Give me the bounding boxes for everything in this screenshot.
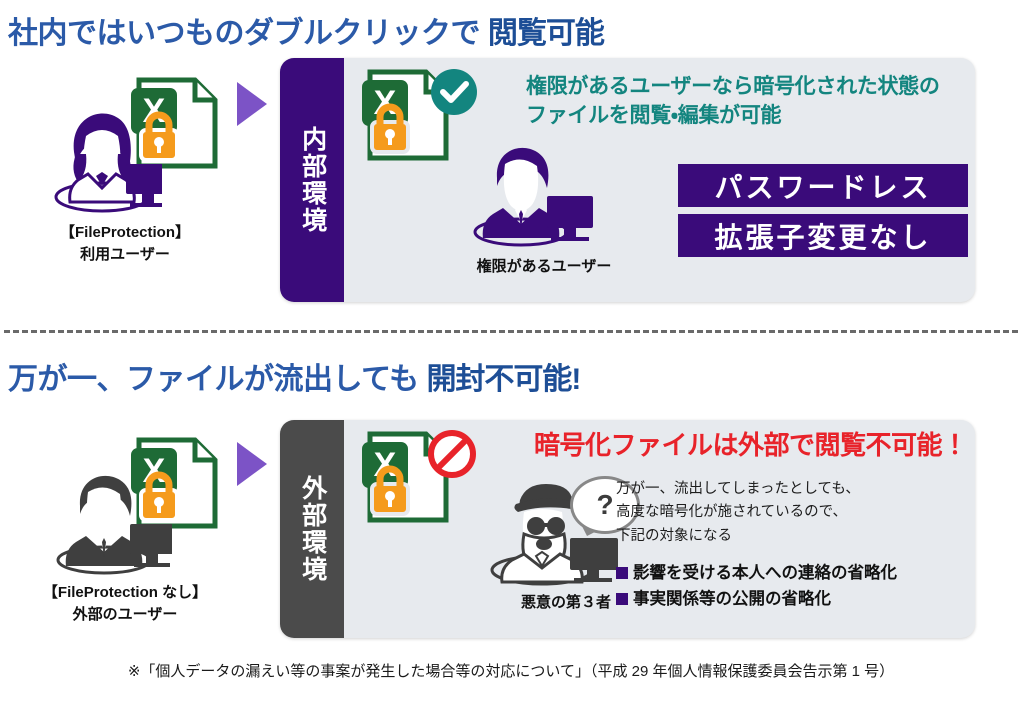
panel-body-external: X 暗号化ファイルは外部で閲覧不可能！ bbox=[344, 420, 975, 638]
panel-internal-environment: 内部環境 X 権限があるユーザーなら暗号化された状態の ファイルを閲覧・編集が可… bbox=[280, 58, 975, 302]
section-title-top-accent: 閲覧可能 bbox=[488, 17, 604, 50]
infographic-canvas: 社内ではいつものダブルクリックで 閲覧可能 X bbox=[0, 0, 1022, 704]
question-mark: ? bbox=[596, 489, 613, 521]
panel-external-environment: 外部環境 X 暗号化ファイルは外部で閲覧不可能！ bbox=[280, 420, 975, 638]
section-title-bottom-accent: 開封不可能! bbox=[426, 363, 580, 396]
bullet-square-icon bbox=[616, 567, 628, 579]
headline-internal: 権限があるユーザーなら暗号化された状態の ファイルを閲覧・編集が可能 bbox=[526, 72, 940, 131]
user-art-internal: X bbox=[0, 70, 250, 220]
section-title-bottom-plain: 万が一、ファイルが流出しても bbox=[8, 363, 426, 396]
male-user-gray-icon bbox=[52, 464, 172, 576]
section-divider bbox=[4, 330, 1018, 333]
inner-person-authorized-caption: 権限があるユーザー bbox=[454, 255, 634, 276]
body-text-line2: 高度な暗号化が施されているので、 bbox=[616, 501, 860, 524]
banner-no-extension-change: 拡張子変更なし bbox=[678, 214, 968, 257]
user-caption-internal-line1: 【FileProtection】 bbox=[0, 222, 250, 244]
panel-body-internal: X 権限があるユーザーなら暗号化された状態の ファイルを閲覧・編集が可能 bbox=[344, 58, 975, 302]
user-block-external: X 【FileProtection なし】 外部のユーザー bbox=[0, 430, 250, 626]
footnote: ※「個人データの漏えい等の事案が発生した場合等の対応について」（平成 29 年個… bbox=[0, 660, 1022, 681]
female-user-icon bbox=[52, 102, 162, 214]
section-title-top: 社内ではいつものダブルクリックで 閲覧可能 bbox=[8, 8, 604, 52]
user-caption-external-line1: 【FileProtection なし】 bbox=[0, 582, 250, 604]
section-title-bottom: 万が一、ファイルが流出しても 開封不可能! bbox=[8, 354, 580, 398]
body-text-line3: 下記の対象になる bbox=[616, 525, 860, 548]
body-text-external: 万が一、流出してしまったとしても、 高度な暗号化が施されているので、 下記の対象… bbox=[616, 478, 860, 548]
banner-passwordless: パスワードレス bbox=[678, 164, 968, 207]
right-arrow-icon-bottom bbox=[237, 442, 267, 486]
bullet-item-2: 事実関係等の公開の省略化 bbox=[616, 586, 897, 612]
user-caption-internal: 【FileProtection】 利用ユーザー bbox=[0, 222, 250, 266]
bullet-item-2-label: 事実関係等の公開の省略化 bbox=[633, 590, 831, 608]
user-caption-external-line2: 外部のユーザー bbox=[0, 604, 250, 626]
user-caption-internal-line2: 利用ユーザー bbox=[0, 244, 250, 266]
headline-internal-line2: ファイルを閲覧・編集が可能 bbox=[526, 101, 940, 130]
body-text-line1: 万が一、流出してしまったとしても、 bbox=[616, 478, 860, 501]
inner-person-authorized: 権限があるユーザー bbox=[454, 136, 634, 276]
bullet-item-1: 影響を受ける本人への連絡の省略化 bbox=[616, 560, 897, 586]
bullet-square-icon bbox=[616, 593, 628, 605]
env-tab-internal: 内部環境 bbox=[280, 58, 344, 302]
section-title-top-plain: 社内ではいつものダブルクリックで bbox=[8, 17, 488, 50]
bullet-list-external: 影響を受ける本人への連絡の省略化 事実関係等の公開の省略化 bbox=[616, 560, 897, 613]
bullet-item-1-label: 影響を受ける本人への連絡の省略化 bbox=[633, 564, 897, 582]
user-art-external: X bbox=[0, 430, 250, 580]
headline-internal-line1: 権限があるユーザーなら暗号化された状態の bbox=[526, 72, 940, 101]
businessman-purple-icon bbox=[469, 136, 619, 248]
env-tab-external: 外部環境 bbox=[280, 420, 344, 638]
right-arrow-icon-top bbox=[237, 82, 267, 126]
user-caption-external: 【FileProtection なし】 外部のユーザー bbox=[0, 582, 250, 626]
headline-external: 暗号化ファイルは外部で閲覧不可能！ bbox=[534, 430, 968, 461]
user-block-internal: X bbox=[0, 70, 250, 266]
